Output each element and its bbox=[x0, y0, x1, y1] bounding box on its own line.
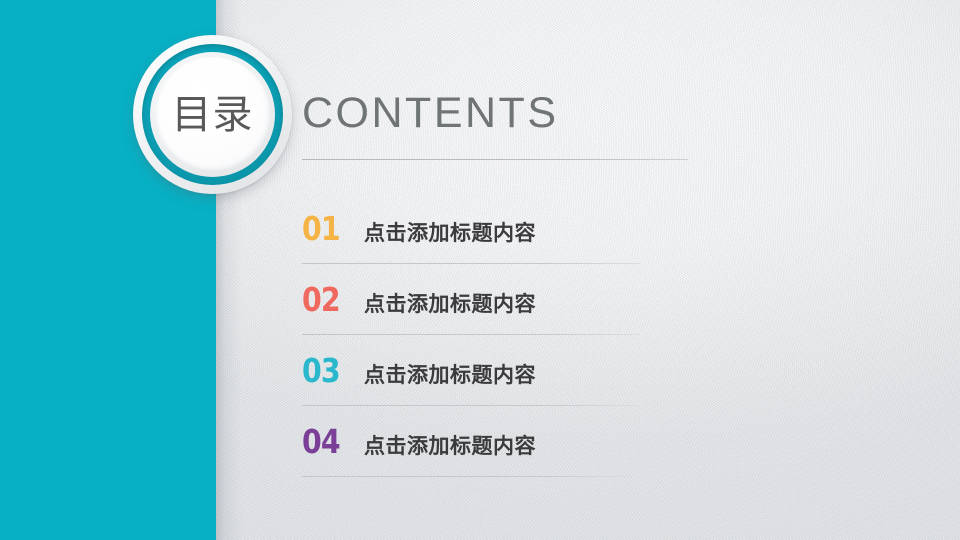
contents-slide: 目录 CONTENTS 01 点击添加标题内容 02 点击添加标题内容 03 点… bbox=[0, 0, 960, 540]
toc-item-label: 点击添加标题内容 bbox=[364, 223, 536, 244]
toc-item-divider bbox=[302, 334, 640, 335]
toc-item-divider bbox=[302, 476, 640, 477]
list-item[interactable]: 03 点击添加标题内容 bbox=[302, 348, 702, 419]
list-item[interactable]: 01 点击添加标题内容 bbox=[302, 206, 702, 277]
page-title: CONTENTS bbox=[302, 92, 702, 135]
toc-item-number: 03 bbox=[302, 354, 355, 387]
contents-badge: 目录 bbox=[133, 35, 292, 194]
toc-item-number: 04 bbox=[302, 425, 355, 458]
toc-item-number: 02 bbox=[302, 283, 355, 316]
page-title-block: CONTENTS bbox=[302, 92, 702, 135]
badge-face: 目录 bbox=[155, 57, 270, 172]
toc-item-label: 点击添加标题内容 bbox=[364, 365, 536, 386]
toc-item-label: 点击添加标题内容 bbox=[364, 294, 536, 315]
toc-item-label: 点击添加标题内容 bbox=[364, 436, 536, 457]
page-title-underline bbox=[302, 159, 688, 160]
list-item[interactable]: 02 点击添加标题内容 bbox=[302, 277, 702, 348]
list-item[interactable]: 04 点击添加标题内容 bbox=[302, 419, 702, 490]
toc-item-number: 01 bbox=[302, 212, 355, 245]
badge-label: 目录 bbox=[172, 95, 254, 135]
toc-item-divider bbox=[302, 263, 640, 264]
toc-item-divider bbox=[302, 405, 640, 406]
table-of-contents: 01 点击添加标题内容 02 点击添加标题内容 03 点击添加标题内容 04 点… bbox=[302, 206, 702, 490]
